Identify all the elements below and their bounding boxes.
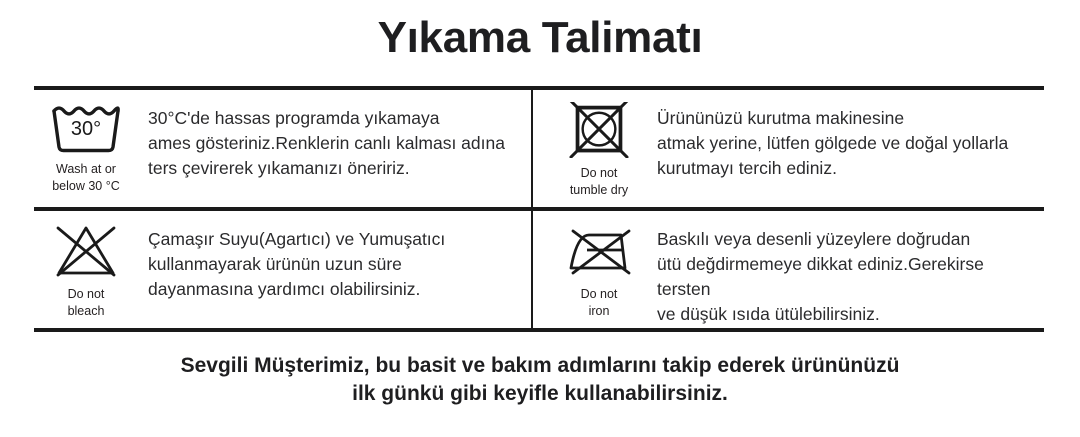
wash-temperature-text: 30°: [71, 118, 101, 140]
bleach-icon-caption: Do not bleach: [68, 286, 105, 319]
tumble-dry-icon-caption: Do not tumble dry: [570, 165, 628, 198]
care-cell-wash: 30° Wash at or below 30 °C 30°C'de hassa…: [34, 90, 531, 207]
wash-icon-caption: Wash at or below 30 °C: [52, 161, 120, 194]
care-text-iron: Baskılı veya desenli yüzeylere doğrudan …: [651, 219, 1044, 326]
table-row: 30° Wash at or below 30 °C 30°C'de hassa…: [34, 90, 1044, 211]
care-text-bleach: Çamaşır Suyu(Agartıcı) ve Yumuşatıcı kul…: [138, 219, 531, 302]
iron-icon-caption: Do not iron: [581, 286, 618, 319]
care-cell-bleach: Do not bleach Çamaşır Suyu(Agartıcı) ve …: [34, 211, 531, 328]
iron-icon-block: Do not iron: [547, 219, 651, 319]
page-title: Yıkama Talimatı: [0, 0, 1080, 60]
tumble-dry-icon-block: Do not tumble dry: [547, 98, 651, 198]
care-text-tumble-dry: Ürününüzü kurutma makinesine atmak yerin…: [651, 98, 1044, 181]
do-not-bleach-icon: [50, 223, 122, 279]
do-not-tumble-dry-icon: [563, 102, 635, 158]
care-label-sheet: Yıkama Talimatı 30° Wash at or below 30 …: [0, 0, 1080, 437]
care-cell-iron: Do not iron Baskılı veya desenli yüzeyle…: [531, 211, 1044, 328]
wash-30-icon: 30°: [50, 102, 122, 154]
bleach-icon-block: Do not bleach: [34, 219, 138, 319]
care-text-wash: 30°C'de hassas programda yıkamaya ames g…: [138, 98, 531, 181]
table-row: Do not bleach Çamaşır Suyu(Agartıcı) ve …: [34, 211, 1044, 328]
do-not-iron-icon: [563, 223, 635, 279]
care-cell-tumble-dry: Do not tumble dry Ürününüzü kurutma maki…: [531, 90, 1044, 207]
footer-note: Sevgili Müşterimiz, bu basit ve bakım ad…: [0, 352, 1080, 408]
care-instruction-table: 30° Wash at or below 30 °C 30°C'de hassa…: [34, 86, 1044, 332]
wash-icon-block: 30° Wash at or below 30 °C: [34, 98, 138, 194]
